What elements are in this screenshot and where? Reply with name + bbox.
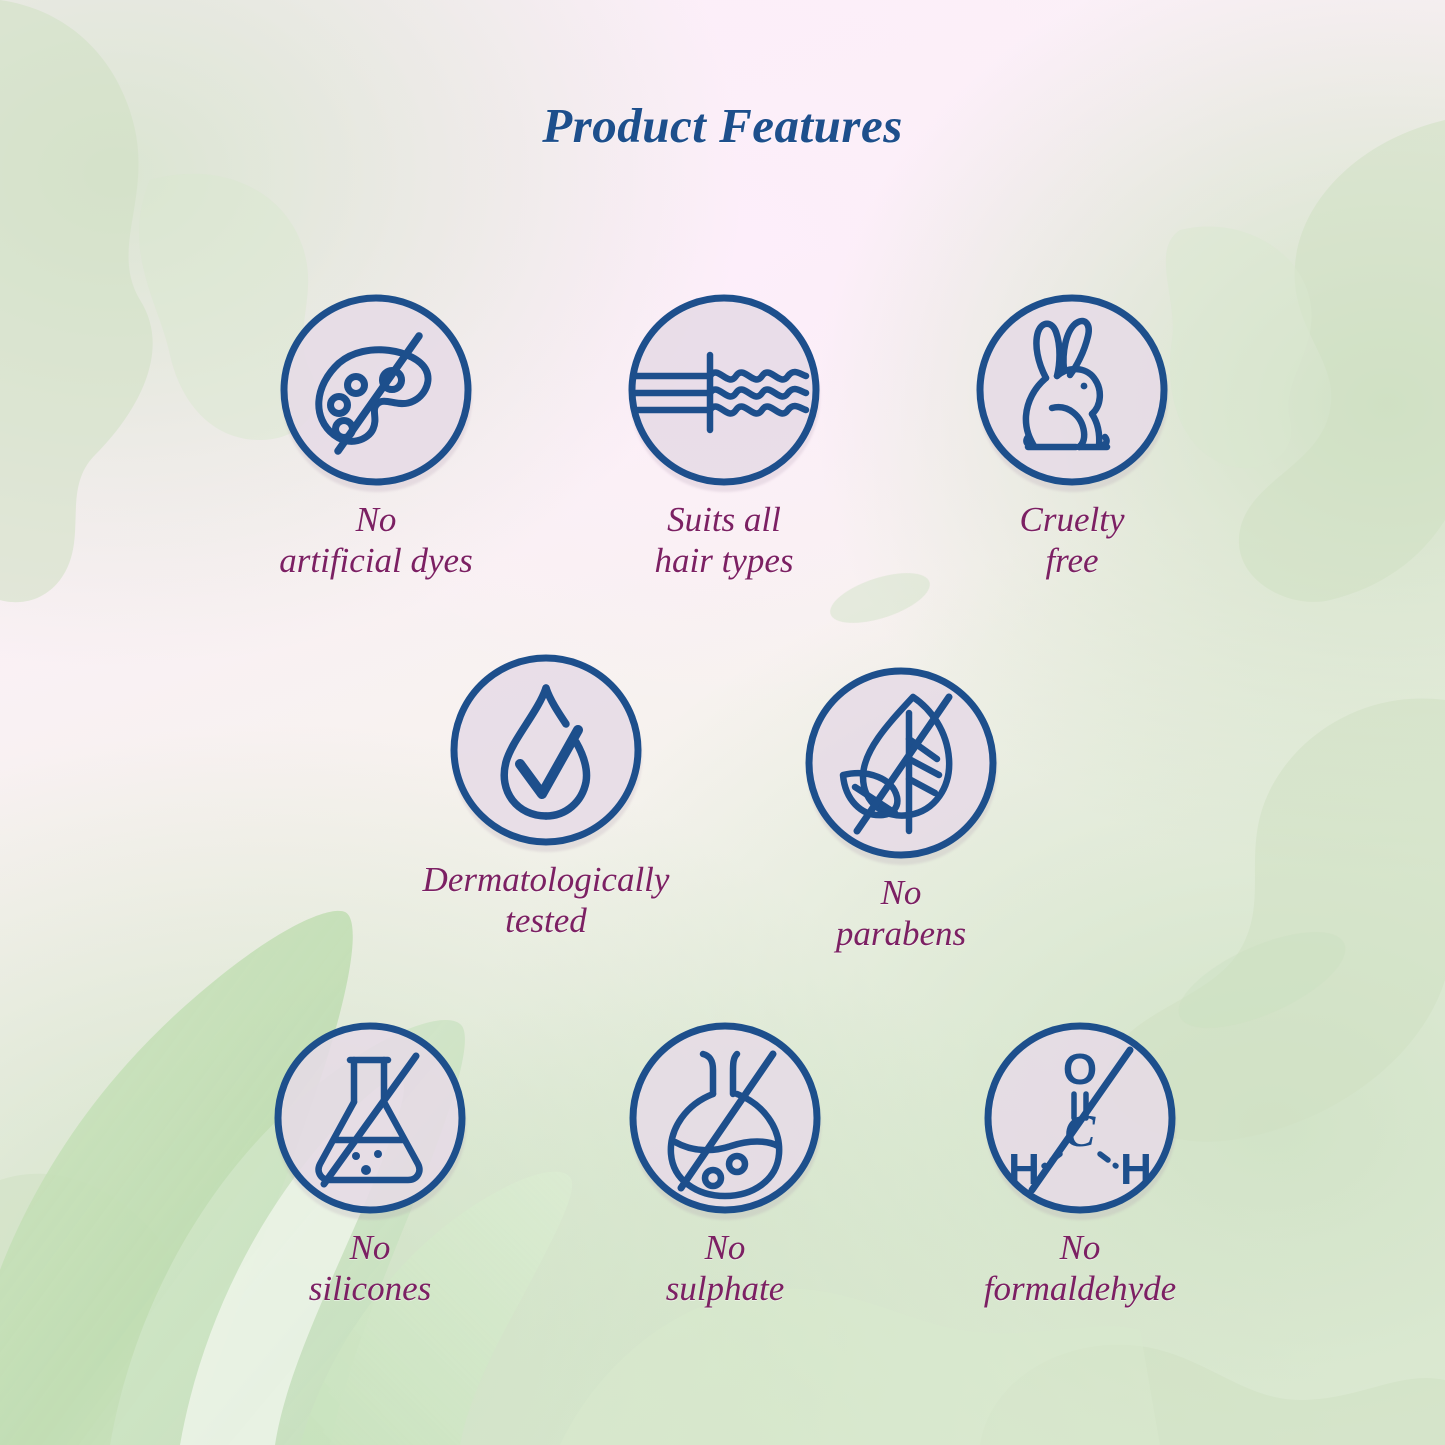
no-silicones-icon: [270, 1018, 470, 1218]
label-line-2: silicones: [220, 1269, 520, 1310]
feature-label: No silicones: [220, 1228, 520, 1309]
feature-label: Dermatologically tested: [396, 860, 696, 941]
label-line-1: Dermatologically: [423, 860, 670, 899]
label-line-2: sulphate: [575, 1269, 875, 1310]
no-artificial-dyes-icon: [276, 290, 476, 490]
no-formaldehyde-icon: O C H H: [980, 1018, 1180, 1218]
label-line-2: parabens: [751, 914, 1051, 955]
label-line-1: No: [356, 500, 397, 539]
feature-label: No sulphate: [575, 1228, 875, 1309]
feature-label: No artificial dyes: [226, 500, 526, 581]
suits-all-hair-types-icon: [624, 290, 824, 490]
label-line-1: Suits all: [667, 500, 781, 539]
no-parabens-icon: [801, 663, 1001, 863]
label-line-2: artificial dyes: [226, 541, 526, 582]
feature-suits-all-hair-types: Suits all hair types: [574, 290, 874, 581]
label-line-2: formaldehyde: [930, 1269, 1230, 1310]
feature-label: No formaldehyde: [930, 1228, 1230, 1309]
label-line-1: No: [881, 873, 922, 912]
label-line-2: free: [922, 541, 1222, 582]
product-features-infographic: Product Features No artificial dyes: [0, 0, 1445, 1445]
feature-label: No parabens: [751, 873, 1051, 954]
label-line-1: No: [1060, 1228, 1101, 1267]
feature-label: Suits all hair types: [574, 500, 874, 581]
feature-no-silicones: No silicones: [220, 1018, 520, 1309]
feature-label: Cruelty free: [922, 500, 1222, 581]
cruelty-free-icon: [972, 290, 1172, 490]
feature-no-artificial-dyes: No artificial dyes: [226, 290, 526, 581]
atom-label-oxygen: O: [1063, 1045, 1097, 1094]
no-sulphate-icon: [625, 1018, 825, 1218]
label-line-1: Cruelty: [1020, 500, 1125, 539]
atom-label-hydrogen-right: H: [1120, 1145, 1152, 1194]
feature-no-formaldehyde: O C H H No formaldehyd: [930, 1018, 1230, 1309]
label-line-2: tested: [396, 901, 696, 942]
feature-dermatologically-tested: Dermatologically tested: [396, 650, 696, 941]
label-line-2: hair types: [574, 541, 874, 582]
feature-no-parabens: No parabens: [751, 663, 1051, 954]
label-line-1: No: [350, 1228, 391, 1267]
label-line-1: No: [705, 1228, 746, 1267]
feature-no-sulphate: No sulphate: [575, 1018, 875, 1309]
dermatologically-tested-icon: [446, 650, 646, 850]
page-title: Product Features: [0, 97, 1445, 154]
feature-cruelty-free: Cruelty free: [922, 290, 1222, 581]
